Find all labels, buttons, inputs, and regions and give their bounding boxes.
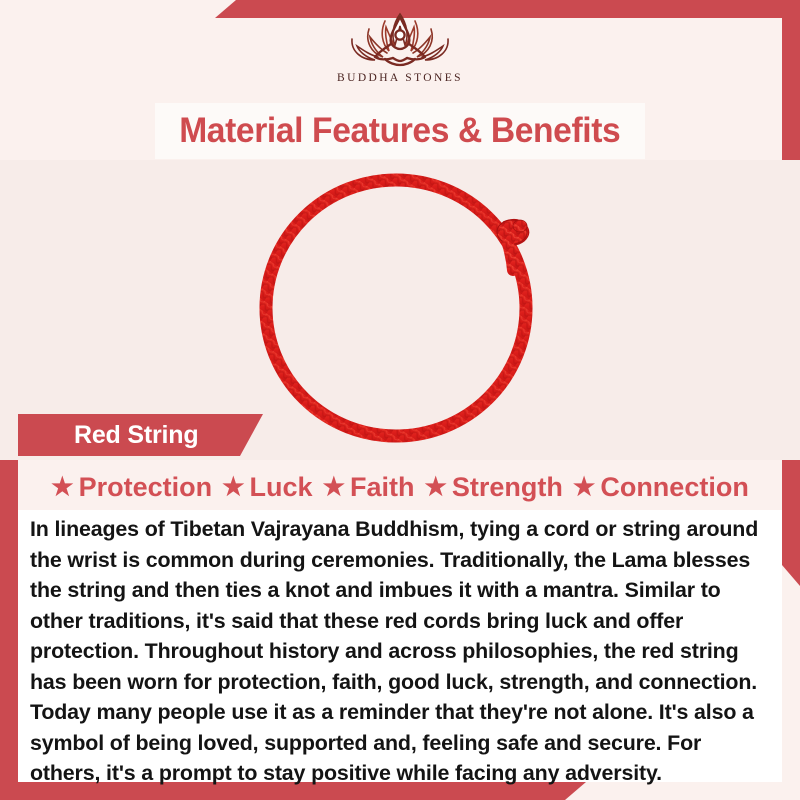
benefit-label: Protection: [79, 472, 213, 503]
page-title-band: Material Features & Benefits: [155, 103, 645, 159]
benefit-item: ★ Faith: [323, 472, 415, 503]
red-string-bracelet-photo: [0, 160, 800, 450]
benefit-label: Faith: [350, 472, 415, 503]
benefits-row: ★ Protection ★ Luck ★ Faith ★ Strength ★…: [18, 466, 782, 508]
brand-logo: BUDDHA STONES: [0, 8, 800, 104]
benefit-label: Connection: [600, 472, 749, 503]
benefit-item: ★ Strength: [424, 472, 562, 503]
star-icon: ★: [424, 475, 446, 500]
brand-name: BUDDHA STONES: [337, 72, 463, 84]
infographic-page: BUDDHA STONES Material Features & Benefi…: [0, 0, 800, 800]
benefit-item: ★ Luck: [222, 472, 312, 503]
page-title: Material Features & Benefits: [179, 111, 620, 151]
lotus-meditation-icon: [325, 8, 475, 74]
description-text: In lineages of Tibetan Vajrayana Buddhis…: [18, 510, 782, 789]
benefit-item: ★ Connection: [573, 472, 749, 503]
star-icon: ★: [51, 475, 73, 500]
benefit-item: ★ Protection: [51, 472, 212, 503]
benefit-label: Strength: [452, 472, 563, 503]
material-label-banner: Red String: [18, 414, 263, 456]
star-icon: ★: [222, 475, 244, 500]
star-icon: ★: [323, 475, 345, 500]
material-label: Red String: [74, 421, 198, 450]
star-icon: ★: [573, 475, 595, 500]
benefit-label: Luck: [250, 472, 313, 503]
description-card: In lineages of Tibetan Vajrayana Buddhis…: [18, 510, 782, 782]
